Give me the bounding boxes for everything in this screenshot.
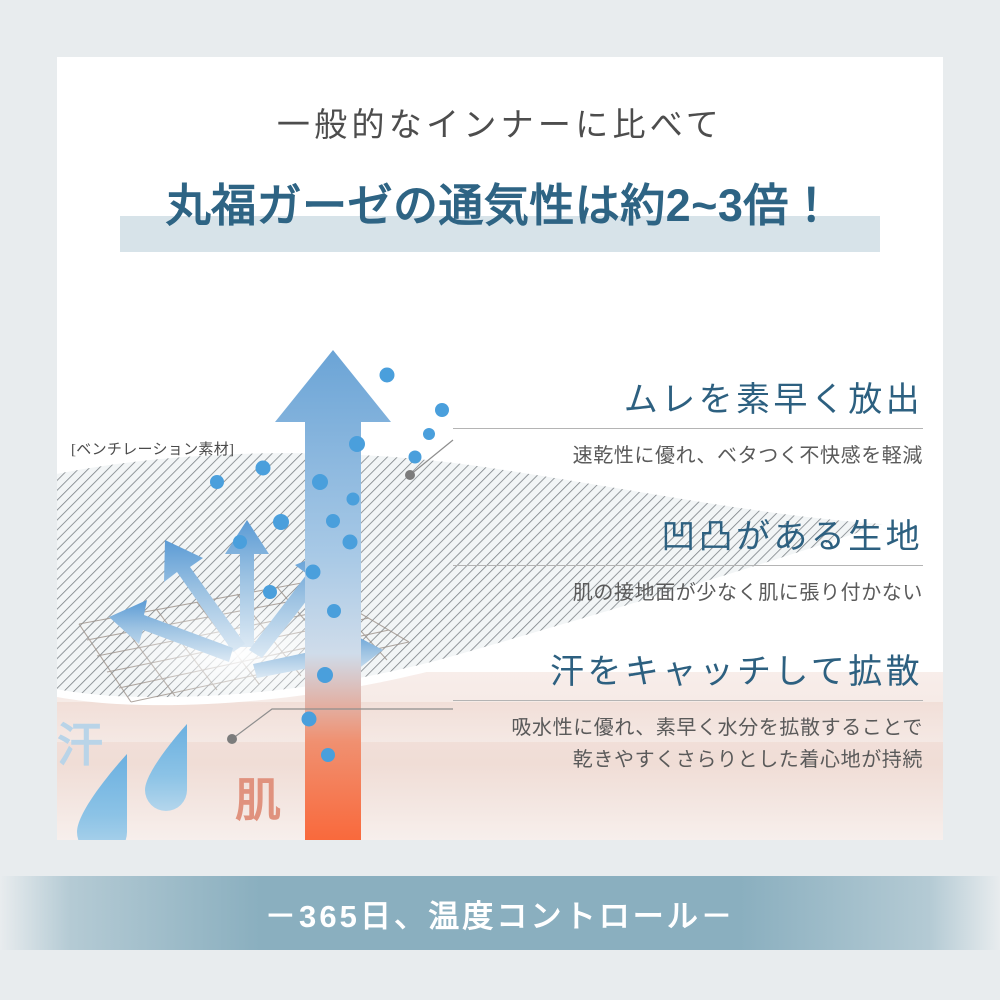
feature-divider bbox=[453, 428, 923, 429]
feature-description: 肌の接地面が少なく肌に張り付かない bbox=[453, 578, 923, 610]
feature-block-1: ムレを素早く放出 速乾性に優れ、ベタつく不快感を軽減 bbox=[453, 372, 923, 473]
page-title: 丸福ガーゼの通気性は約2~3倍！ bbox=[57, 169, 943, 234]
feature-divider bbox=[453, 700, 923, 701]
skin-label: 肌 bbox=[235, 764, 281, 830]
feature-title: 汗をキャッチして拡散 bbox=[453, 644, 923, 693]
feature-title: ムレを素早く放出 bbox=[453, 372, 923, 421]
feature-block-2: 凹凸がある生地 肌の接地面が少なく肌に張り付かない bbox=[453, 509, 923, 610]
headline-block: 丸福ガーゼの通気性は約2~3倍！ bbox=[57, 169, 943, 251]
ventilation-material-label: [ベンチレーション素材] bbox=[71, 438, 234, 459]
feature-title: 凹凸がある生地 bbox=[453, 509, 923, 558]
feature-description-line-2: 乾きやすくさらりとした着心地が持続 bbox=[453, 745, 923, 777]
banner-text: －365日、温度コントロール－ bbox=[265, 891, 735, 936]
feature-divider bbox=[453, 565, 923, 566]
feature-description: 速乾性に優れ、ベタつく不快感を軽減 bbox=[453, 441, 923, 473]
bottom-banner: －365日、温度コントロール－ bbox=[0, 876, 1000, 950]
feature-block-3: 汗をキャッチして拡散 吸水性に優れ、素早く水分を拡散することで 乾きやすくさらり… bbox=[453, 644, 923, 776]
illustration-area: [ベンチレーション素材] 汗 肌 ムレを素早く放出 速乾性に優れ、ベタつく不快感… bbox=[57, 272, 943, 840]
content-card: 一般的なインナーに比べて 丸福ガーゼの通気性は約2~3倍！ bbox=[57, 57, 943, 840]
page-subtitle: 一般的なインナーに比べて bbox=[57, 98, 943, 146]
feature-description-line-1: 吸水性に優れ、素早く水分を拡散することで bbox=[453, 713, 923, 745]
sweat-label: 汗 bbox=[57, 709, 103, 775]
infographic-stage: 一般的なインナーに比べて 丸福ガーゼの通気性は約2~3倍！ bbox=[0, 0, 1000, 1000]
